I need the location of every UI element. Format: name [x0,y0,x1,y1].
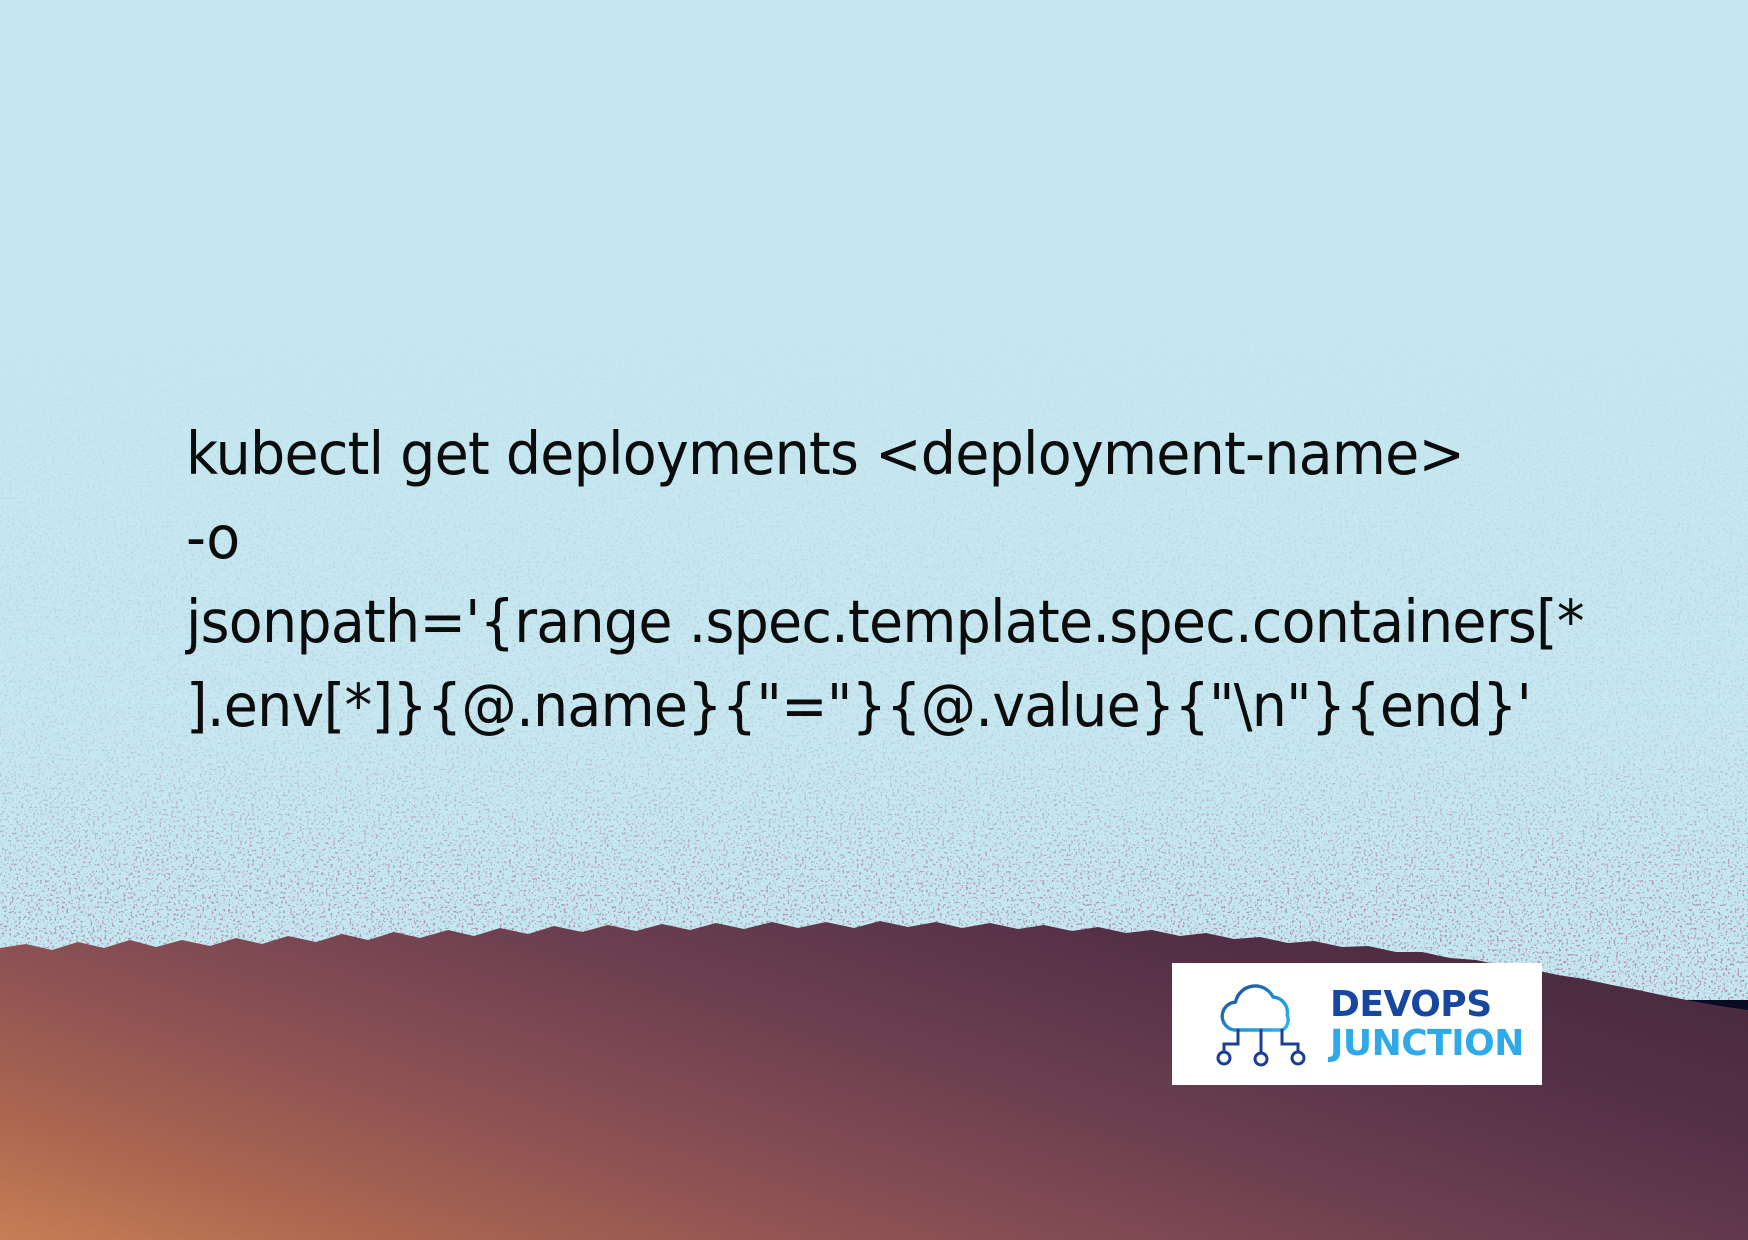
devops-junction-logo[interactable]: DEVOPS JUNCTION [1172,963,1542,1085]
logo-word-junction: JUNCTION [1330,1026,1524,1062]
cloud-network-icon [1208,978,1316,1070]
code-line-1: kubectl get deployments <deployment-name… [186,412,1436,496]
command-code-block: kubectl get deployments <deployment-name… [186,412,1516,748]
logo-word-devops: DEVOPS [1330,987,1524,1023]
poster-canvas: LIST ENVIRONMENT VARIABLES AS KEY=VALUES [0,0,1748,1240]
code-line-2: -o [186,496,1436,580]
code-line-3: jsonpath='{range .spec.template.spec.con… [186,580,1436,664]
code-line-4: ].env[*]}{@.name}{"="}{@.value}{"\n"}{en… [186,664,1436,748]
logo-wordmark: DEVOPS JUNCTION [1330,987,1524,1062]
